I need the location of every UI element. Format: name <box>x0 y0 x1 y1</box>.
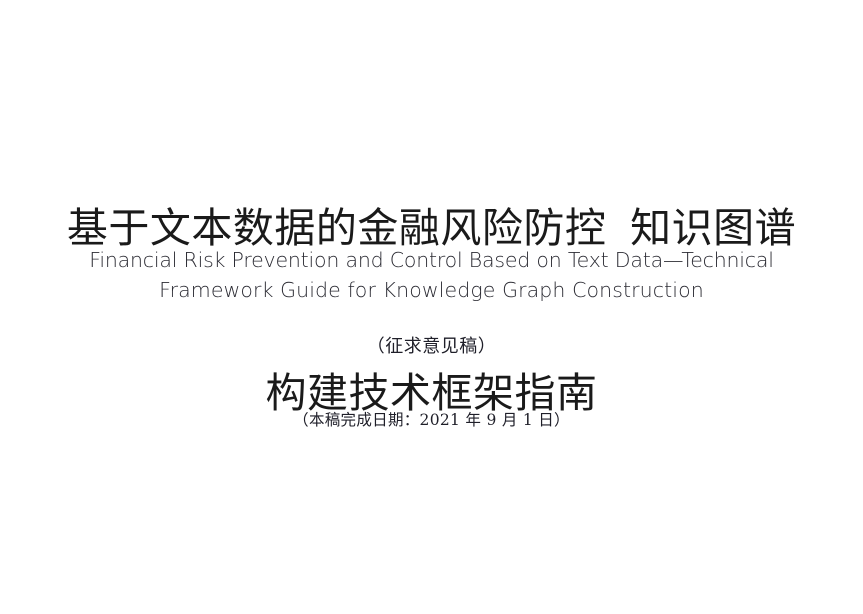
document-title-chinese: 基于文本数据的金融风险防控 知识图谱 构建技术框架指南 <box>0 91 863 531</box>
cover-page: 基于文本数据的金融风险防控 知识图谱 构建技术框架指南 Financial Ri… <box>0 0 863 614</box>
document-title-english-line-1: Financial Risk Prevention and Control Ba… <box>0 245 863 275</box>
completion-date-note: （本稿完成日期：2021 年 9 月 1 日） <box>0 408 863 432</box>
document-title-english-line-2: Framework Guide for Knowledge Graph Cons… <box>0 275 863 305</box>
document-title-english: Financial Risk Prevention and Control Ba… <box>0 245 863 305</box>
draft-status-note: （征求意见稿） <box>0 334 863 360</box>
